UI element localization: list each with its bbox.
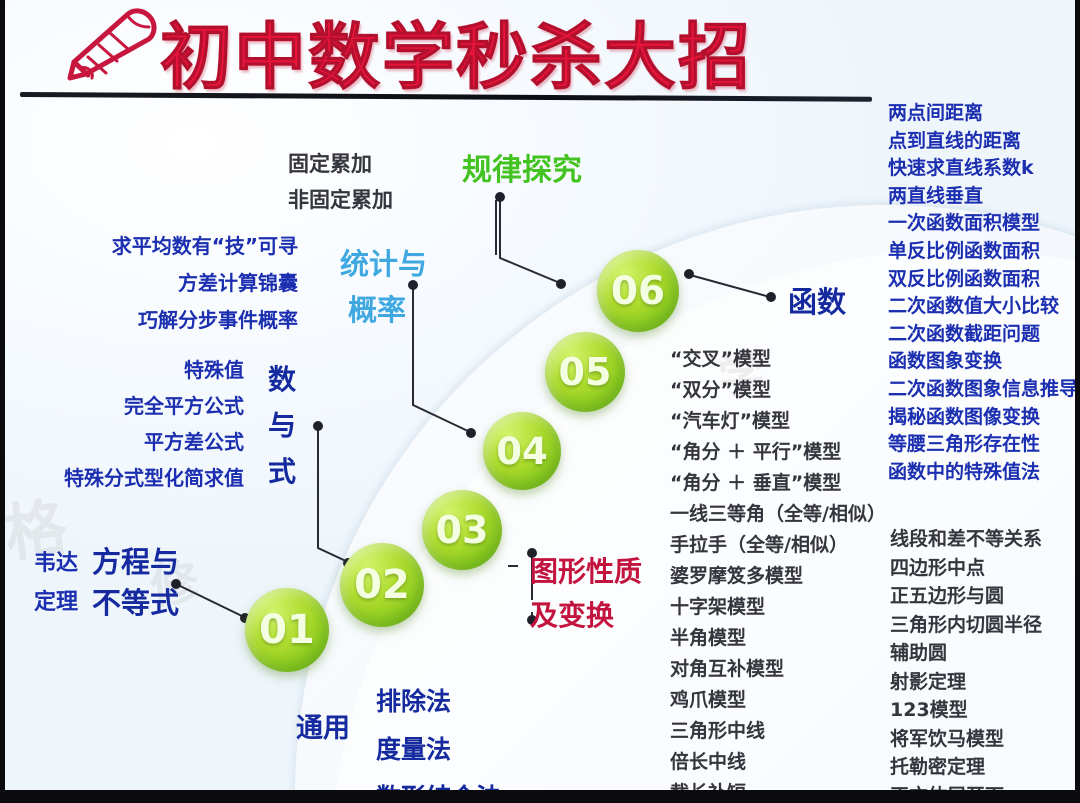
group-general-title: 通用 — [296, 715, 350, 742]
list-item: 倍长中线 — [670, 747, 886, 778]
header: 初中数学秒杀大招 — [0, 0, 1080, 100]
list-item: 完全平方公式 — [14, 388, 244, 424]
list-item: 婆罗摩笈多模型 — [670, 561, 886, 592]
list-item: 十字架模型 — [670, 592, 886, 623]
frame-edge-left — [0, 0, 5, 803]
pencil-icon — [58, 8, 164, 82]
list-item: 揭秘函数图像变换 — [888, 404, 1078, 432]
vieta-label-line2: 定理 — [34, 592, 78, 614]
list-item: 单反比例函数面积 — [888, 238, 1078, 266]
group-numbers-title-char-1: 数 — [268, 366, 296, 394]
group-numbers-title-char-2: 与 — [268, 412, 296, 440]
list-item: 正五边形与圆 — [890, 582, 1042, 611]
list-item: 辅助圆 — [890, 639, 1042, 668]
list-item: 特殊值 — [14, 352, 244, 388]
vieta-label-line1: 韦达 — [34, 553, 78, 575]
frame-edge-bottom — [0, 790, 1080, 803]
stage-number: 01 — [259, 607, 315, 653]
group-equations-title-line1: 方程与 — [92, 548, 179, 577]
list-item: 求平均数有“技”可寻 — [86, 228, 298, 265]
group-statistics-items: 求平均数有“技”可寻 方差计算锦囊 巧解分步事件概率 — [86, 228, 298, 339]
list-item: 非固定累加 — [288, 182, 393, 218]
list-item: 等腰三角形存在性 — [888, 431, 1078, 459]
group-numbers-items: 特殊值 完全平方公式 平方差公式 特殊分式型化简求值 — [14, 352, 244, 496]
stage-bubble-06[interactable]: 06 — [597, 250, 679, 332]
list-item: 四边形中点 — [890, 554, 1042, 583]
list-item: 点到直线的距离 — [888, 128, 1078, 156]
list-item: 对角互补模型 — [670, 654, 886, 685]
stage-number: 02 — [354, 562, 410, 608]
list-item: 特殊分式型化简求值 — [14, 460, 244, 496]
list-item: “汽车灯”模型 — [670, 406, 886, 437]
list-item: 二次函数值大小比较 — [888, 293, 1078, 321]
list-item: “双分”模型 — [670, 375, 886, 406]
stage-bubble-05[interactable]: 05 — [545, 332, 625, 412]
list-item: 度量法 — [376, 726, 501, 774]
group-functions-title: 函数 — [788, 288, 846, 317]
list-item: “角分 ＋ 垂直”模型 — [670, 468, 886, 499]
list-item: 双反比例函数面积 — [888, 266, 1078, 294]
group-rule-exploration-items: 固定累加 非固定累加 — [288, 146, 393, 218]
group-numbers-title-char-3: 式 — [268, 458, 296, 486]
group-geometry-title-line2: 及变换 — [530, 602, 614, 630]
stage-bubble-01[interactable]: 01 — [245, 588, 329, 672]
group-geometry-items: “交叉”模型 “双分”模型 “汽车灯”模型 “角分 ＋ 平行”模型 “角分 ＋ … — [670, 344, 886, 803]
list-item: 排除法 — [376, 678, 501, 726]
list-item: 线段和差不等关系 — [890, 525, 1042, 554]
list-item: 函数图象变换 — [888, 348, 1078, 376]
list-item: 方差计算锦囊 — [86, 265, 298, 302]
list-item: 123模型 — [890, 696, 1042, 725]
group-general-items: 排除法 度量法 数形结合法 — [376, 678, 501, 803]
group-statistics-title-line2: 概率 — [348, 296, 406, 325]
list-item: 快速求直线系数k — [888, 155, 1078, 183]
list-item: 射影定理 — [890, 668, 1042, 697]
list-item: 两点间距离 — [888, 100, 1078, 128]
stage-bubble-03[interactable]: 03 — [422, 490, 502, 570]
list-item: 两直线垂直 — [888, 183, 1078, 211]
list-item: 平方差公式 — [14, 424, 244, 460]
group-functions-items: 两点间距离 点到直线的距离 快速求直线系数k 两直线垂直 一次函数面积模型 单反… — [888, 100, 1078, 486]
stage-number: 04 — [496, 430, 548, 473]
stage-bubble-04[interactable]: 04 — [483, 412, 561, 490]
stage-number: 06 — [611, 269, 665, 314]
list-item: 一线三等角（全等/相似） — [670, 499, 886, 530]
list-item: 固定累加 — [288, 146, 393, 182]
list-item: 一次函数面积模型 — [888, 210, 1078, 238]
frame-edge-right — [1075, 0, 1080, 803]
stage-number: 03 — [436, 508, 489, 552]
group-geometry-title-line1: 图形性质 — [530, 558, 642, 586]
list-item: 半角模型 — [670, 623, 886, 654]
group-equations-title-line2: 不等式 — [92, 589, 179, 618]
list-item: 托勒密定理 — [890, 753, 1042, 782]
list-item: 二次函数截距问题 — [888, 321, 1078, 349]
list-item: 三角形内切圆半径 — [890, 611, 1042, 640]
list-item: 函数中的特殊值法 — [888, 459, 1078, 487]
poster-canvas: 格 修 学 初中数学秒杀大招 — [0, 0, 1080, 803]
list-item: 将军饮马模型 — [890, 725, 1042, 754]
list-item: 二次函数图象信息推导 — [888, 376, 1078, 404]
list-item: “交叉”模型 — [670, 344, 886, 375]
list-item: 鸡爪模型 — [670, 685, 886, 716]
list-item: 三角形中线 — [670, 716, 886, 747]
list-item: “角分 ＋ 平行”模型 — [670, 437, 886, 468]
stage-number: 05 — [559, 350, 612, 394]
group-statistics-title-line1: 统计与 — [340, 250, 427, 279]
page-title: 初中数学秒杀大招 — [160, 0, 752, 103]
group-geometry-extra-items: 线段和差不等关系 四边形中点 正五边形与圆 三角形内切圆半径 辅助圆 射影定理 … — [890, 525, 1042, 803]
group-rule-exploration-title: 规律探究 — [462, 156, 582, 186]
list-item: 手拉手（全等/相似） — [670, 530, 886, 561]
stage-bubble-02[interactable]: 02 — [340, 543, 424, 627]
list-item: 巧解分步事件概率 — [86, 302, 298, 339]
